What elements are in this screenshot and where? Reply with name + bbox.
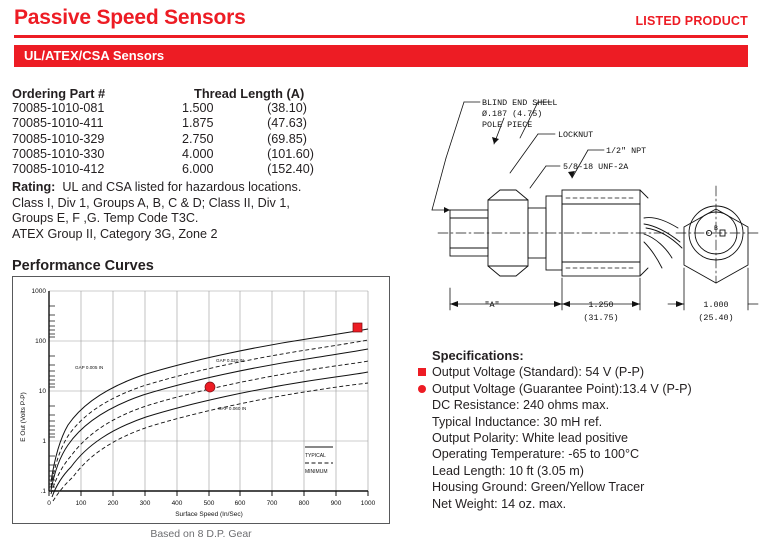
drawing-leader-unf (530, 166, 560, 188)
listed-product-badge: LISTED PRODUCT (635, 14, 748, 28)
drawing-center-line (438, 186, 758, 283)
section-bar-label: UL/ATEX/CSA Sensors (24, 48, 164, 63)
cell-inch: 6.000 (182, 162, 267, 177)
col-header-thread: Thread Length (A) (182, 86, 342, 101)
table-row: 70085-1010-411 1.875 (47.63) (12, 116, 342, 131)
legend-label-typical: TYPICAL (305, 453, 326, 459)
chart-caption: Based on 8 D.P. Gear (12, 528, 390, 540)
page-title: Passive Speed Sensors (14, 6, 246, 30)
spec-item-output-polarity: Output Polarity: White lead positive (432, 430, 758, 446)
cell-part: 70085-1010-412 (12, 162, 182, 177)
section-bar: UL/ATEX/CSA Sensors (14, 45, 748, 67)
col-header-part: Ordering Part # (12, 86, 182, 101)
drawing-svg: BLIND END SHELL Ø.187 (4.75) POLE PIECE … (420, 78, 762, 340)
spec-text: Net Weight: 14 oz. max. (432, 497, 566, 511)
callout-diameter: Ø.187 (4.75) (482, 109, 542, 119)
x-tick-0: 0 (47, 500, 51, 507)
rating-line-2: Class I, Div 1, Groups A, B, C & D; Clas… (12, 196, 362, 212)
spec-text: Lead Length: 10 ft (3.05 m) (432, 464, 584, 478)
dimension-hex-mm: (25.40) (698, 313, 733, 323)
y-tick-1000: 1000 (32, 288, 47, 295)
cell-mm: (152.40) (267, 162, 342, 177)
table-row: 70085-1010-081 1.500 (38.10) (12, 101, 342, 116)
y-tick-1: 1 (42, 438, 46, 445)
marker-guarantee-point (205, 382, 215, 392)
x-tick-300: 300 (140, 500, 151, 507)
spec-item-lead-length: Lead Length: 10 ft (3.05 m) (432, 463, 758, 479)
spec-item-operating-temperature: Operating Temperature: -65 to 100°C (432, 446, 758, 462)
cell-part: 70085-1010-330 (12, 147, 182, 162)
square-marker-icon (418, 368, 426, 376)
dimension-a: "A" (484, 300, 499, 310)
table-row: 70085-1010-412 6.000 (152.40) (12, 162, 342, 177)
chart-legend: TYPICAL MINIMUM (305, 447, 333, 475)
callout-thread-unf: 5/8-18 UNF-2A (563, 162, 629, 172)
table-row: 70085-1010-329 2.750 (69.85) (12, 132, 342, 147)
chart-y-axis-label: E Out (Volts P-P) (20, 392, 27, 442)
header-divider (14, 35, 748, 38)
y-tick-10: 10 (39, 388, 47, 395)
spec-item-output-voltage-standard: Output Voltage (Standard): 54 V (P-P) (432, 364, 758, 380)
specifications-heading: Specifications: (432, 348, 758, 364)
cell-inch: 1.875 (182, 116, 267, 131)
chart-y-tick-labels: 1000 100 10 1 .1 (32, 288, 47, 495)
dimension-len-in: 1.250 (588, 300, 613, 310)
chart-svg: 1000 100 10 1 .1 E Out (Volts P-P) 0 100… (13, 277, 388, 522)
spec-item-dc-resistance: DC Resistance: 240 ohms max. (432, 397, 758, 413)
x-tick-600: 600 (235, 500, 246, 507)
cell-inch: 4.000 (182, 147, 267, 162)
curve-gap-060-minimum (53, 383, 368, 501)
chart-x-axis-label: Surface Speed (In/Sec) (175, 511, 243, 518)
spec-item-net-weight: Net Weight: 14 oz. max. (432, 496, 758, 512)
cell-inch: 1.500 (182, 101, 267, 116)
spec-text: Typical Inductance: 30 mH ref. (432, 415, 602, 429)
callout-locknut: LOCKNUT (558, 130, 593, 140)
rating-label: Rating: (12, 180, 55, 194)
cell-mm: (38.10) (267, 101, 342, 116)
callout-pole-piece: POLE PIECE (482, 120, 532, 130)
drawing-wire-leads (644, 218, 682, 268)
cell-inch: 2.750 (182, 132, 267, 147)
spec-item-housing-ground: Housing Ground: Green/Yellow Tracer (432, 479, 758, 495)
annotation-gap-020: GAP 0.020 IN (216, 358, 244, 363)
rating-line-3: Groups E, F ,G. Temp Code T3C. (12, 211, 362, 227)
legend-label-minimum: MINIMUM (305, 469, 328, 475)
cell-mm: (101.60) (267, 147, 342, 162)
cell-part: 70085-1010-329 (12, 132, 182, 147)
curve-gap-005-typical (51, 329, 368, 482)
x-tick-800: 800 (299, 500, 310, 507)
rating-line-4: ATEX Group II, Category 3G, Zone 2 (12, 227, 362, 243)
performance-curves-heading: Performance Curves (12, 258, 154, 274)
hex-view-marking: B (714, 225, 718, 232)
rating-block: Rating: UL and CSA listed for hazardous … (12, 180, 362, 242)
spec-item-typical-inductance: Typical Inductance: 30 mH ref. (432, 414, 758, 430)
spec-text: DC Resistance: 240 ohms max. (432, 398, 609, 412)
x-tick-700: 700 (267, 500, 278, 507)
cell-mm: (47.63) (267, 116, 342, 131)
chart-y-minor-ticks (49, 306, 55, 487)
dimension-len-mm: (31.75) (583, 313, 618, 323)
datasheet-page: Passive Speed Sensors LISTED PRODUCT UL/… (0, 0, 762, 550)
x-tick-200: 200 (108, 500, 119, 507)
table-header-row: Ordering Part # Thread Length (A) (12, 86, 342, 101)
rating-text-1: UL and CSA listed for hazardous location… (62, 180, 301, 194)
marker-standard-output (353, 323, 362, 332)
rating-line-1: Rating: UL and CSA listed for hazardous … (12, 180, 362, 196)
callout-blind-end-shell: BLIND END SHELL (482, 98, 557, 108)
annotation-gap-060: GAP 0.060 IN (218, 406, 246, 411)
callout-thread-npt: 1/2" NPT (606, 146, 646, 156)
chart-x-tick-labels: 0 100 200 300 400 500 600 700 800 900 10… (47, 500, 375, 507)
cell-part: 70085-1010-081 (12, 101, 182, 116)
spec-text: Housing Ground: Green/Yellow Tracer (432, 480, 644, 494)
cell-mm: (69.85) (267, 132, 342, 147)
x-tick-900: 900 (331, 500, 342, 507)
y-tick-100: 100 (35, 338, 46, 345)
spec-text: Output Polarity: White lead positive (432, 431, 628, 445)
chart-annotations: GAP 0.005 IN GAP 0.020 IN GAP 0.060 IN (75, 358, 246, 411)
x-tick-100: 100 (76, 500, 87, 507)
x-tick-500: 500 (204, 500, 215, 507)
annotation-gap-005: GAP 0.005 IN (75, 365, 103, 370)
specifications-block: Specifications: Output Voltage (Standard… (432, 348, 758, 512)
circle-marker-icon (418, 385, 426, 393)
y-tick-0.1: .1 (41, 488, 47, 495)
x-tick-1000: 1000 (361, 500, 376, 507)
chart-x-ticks (49, 491, 368, 496)
curve-gap-005-minimum (51, 340, 368, 487)
table-row: 70085-1010-330 4.000 (101.60) (12, 147, 342, 162)
dimension-hex-in: 1.000 (703, 300, 728, 310)
sensor-technical-drawing: BLIND END SHELL Ø.187 (4.75) POLE PIECE … (420, 78, 762, 340)
ordering-table: Ordering Part # Thread Length (A) 70085-… (12, 86, 342, 177)
x-tick-400: 400 (172, 500, 183, 507)
spec-text: Output Voltage (Standard): 54 V (P-P) (432, 365, 644, 379)
performance-chart: 1000 100 10 1 .1 E Out (Volts P-P) 0 100… (12, 276, 390, 524)
cell-part: 70085-1010-411 (12, 116, 182, 131)
spec-text: Output Voltage (Guarantee Point):13.4 V … (432, 382, 692, 396)
spec-text: Operating Temperature: -65 to 100°C (432, 447, 639, 461)
spec-item-output-voltage-guarantee: Output Voltage (Guarantee Point):13.4 V … (432, 381, 758, 397)
